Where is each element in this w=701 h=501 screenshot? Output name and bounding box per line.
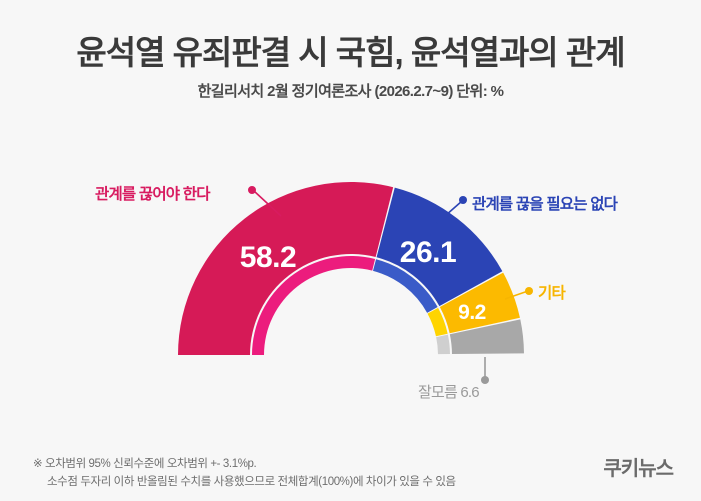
callout-label-4: 잘모름 6.6: [418, 381, 479, 402]
slice-value-1: 58.2: [240, 241, 296, 275]
footnote-line-2: 소수점 두자리 이하 반올림된 수치를 사용했으므로 전체합계(100%)에 차…: [33, 474, 456, 492]
footnote: ※ 오차범위 95% 신뢰수준에 오차범위 +- 3.1%p. 소수점 두자리 …: [33, 456, 456, 492]
leader-dot-slice4: [481, 376, 489, 384]
slice-value-3: 9.2: [458, 301, 486, 325]
footnote-line-1: ※ 오차범위 95% 신뢰수준에 오차범위 +- 3.1%p.: [33, 458, 256, 470]
donut-inner-slice-4: [436, 335, 450, 355]
callout-label-3: 기타: [538, 281, 565, 303]
infographic-canvas: 윤석열 유죄판결 시 국힘, 윤석열과의 관계 한길리서치 2월 정기여론조사 …: [0, 0, 701, 501]
brand-logo: 쿠키뉴스: [603, 452, 673, 481]
leader-dot-slice3: [525, 287, 533, 295]
half-donut-chart: [0, 0, 701, 501]
callout-label-2: 관계를 끊을 필요는 없다: [472, 192, 617, 214]
callout-label-1: 관계를 끊어야 한다: [95, 182, 210, 204]
slice-value-2: 26.1: [400, 236, 456, 270]
leader-dot-slice1: [248, 186, 256, 194]
leader-dot-slice2: [459, 196, 467, 204]
